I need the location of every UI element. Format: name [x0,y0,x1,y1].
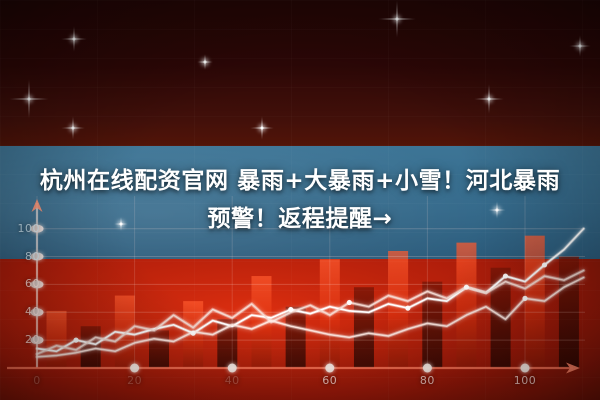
vignette-overlay [0,0,600,400]
image-canvas: 20406080100 020406080100 杭州在线配资官网 暴雨+大暴雨… [0,0,600,400]
